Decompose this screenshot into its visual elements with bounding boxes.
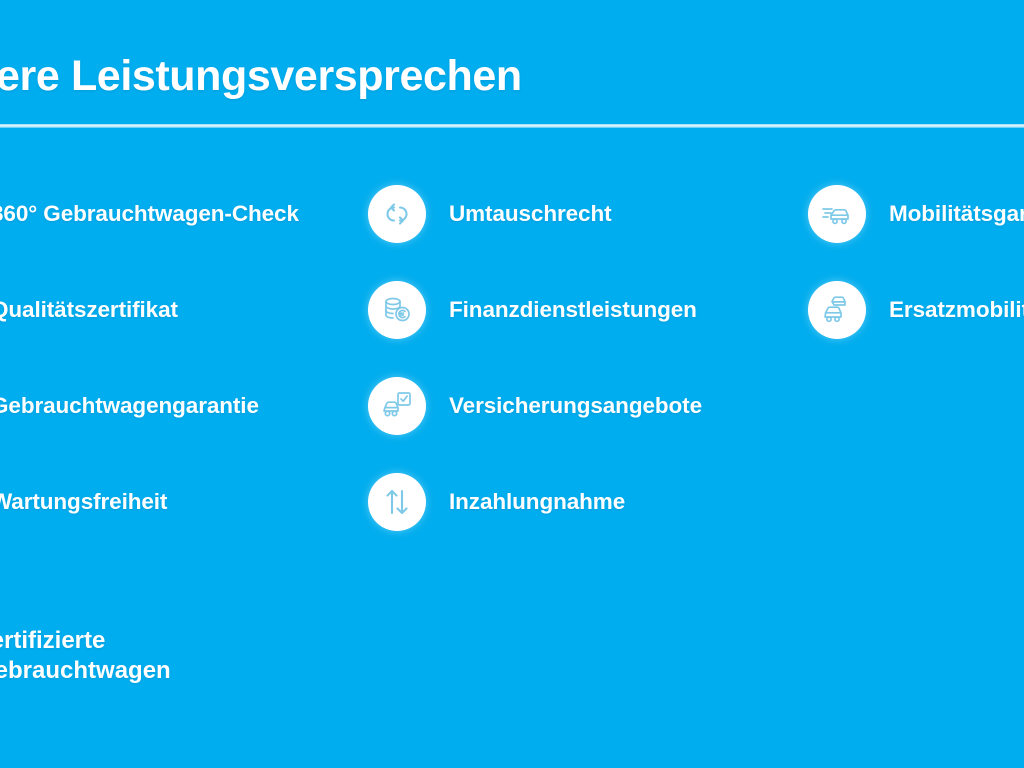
feature-label: Qualitätszertifikat (0, 297, 178, 323)
feature-item[interactable]: 360° Gebrauchtwagen-Check (0, 166, 380, 262)
feature-item[interactable]: Gebrauchtwagengarantie (0, 358, 380, 454)
page-title: Unsere Leistungsversprechen (0, 52, 522, 101)
feature-item[interactable]: Versicherungsangebote (368, 358, 838, 454)
feature-item[interactable]: Qualitätszertifikat (0, 262, 380, 358)
feature-item[interactable]: Ersatzmobilität (808, 262, 1024, 358)
feature-column-1: 360° Gebrauchtwagen-Check Qualitätszerti… (0, 166, 380, 550)
feature-item[interactable]: Umtauschrecht (368, 166, 838, 262)
feature-label: Wartungsfreiheit (0, 489, 167, 515)
feature-column-2: Umtauschrecht Finanzdienstleistungen (368, 166, 838, 550)
feature-item[interactable]: Wartungsfreiheit (0, 454, 380, 550)
feature-item[interactable]: Finanzdienstleistungen (368, 262, 838, 358)
feature-label: Ersatzmobilität (889, 297, 1024, 323)
feature-label: Versicherungsangebote (449, 393, 702, 419)
brand-line-1: Zertifizierte (0, 626, 336, 656)
feature-column-3: Mobilitätsgarantie Ersatzmobilität (808, 166, 1024, 358)
header: Unsere Leistungsversprechen (0, 0, 1024, 126)
feature-label: Umtauschrecht (449, 201, 612, 227)
coins-euro-icon (368, 281, 426, 339)
feature-label: Mobilitätsgarantie (889, 201, 1024, 227)
brand-line-2: Gebrauchtwagen (0, 656, 336, 686)
up-down-arrows-icon (368, 473, 426, 531)
feature-label: Finanzdienstleistungen (449, 297, 697, 323)
feature-item[interactable]: Inzahlungnahme (368, 454, 838, 550)
feature-label: Gebrauchtwagengarantie (0, 393, 259, 419)
car-checklist-icon (368, 377, 426, 435)
feature-label: Inzahlungnahme (449, 489, 625, 515)
car-motion-icon (808, 185, 866, 243)
feature-item[interactable]: Mobilitätsgarantie (808, 166, 1024, 262)
feature-label: 360° Gebrauchtwagen-Check (0, 201, 299, 227)
two-cars-icon (808, 281, 866, 339)
brand-lockup: Zertifizierte Gebrauchtwagen (0, 626, 336, 686)
exchange-arrows-icon (368, 185, 426, 243)
